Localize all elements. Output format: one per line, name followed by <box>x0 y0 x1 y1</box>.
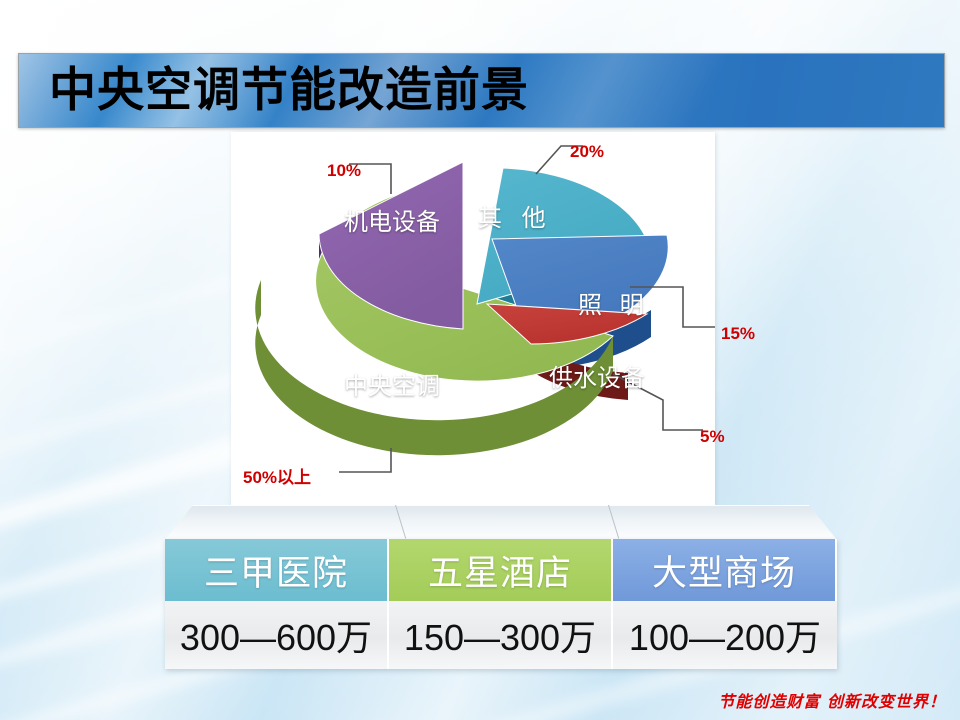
table-header-mall: 大型商场 <box>613 539 837 601</box>
table-header-hotel: 五星酒店 <box>389 539 613 601</box>
table-cell-mall-value: 100—200万 <box>613 601 837 669</box>
pie-percent-water: 5% <box>700 427 725 447</box>
page-title: 中央空调节能改造前景 <box>49 67 529 114</box>
table-cell-hospital-value: 300—600万 <box>165 601 389 669</box>
pie-chart-svg <box>231 132 715 505</box>
pie-percent-jidian: 10% <box>327 161 361 181</box>
pie-percent-lighting: 15% <box>721 324 755 344</box>
table-lid <box>165 505 837 540</box>
table-grid: 三甲医院 五星酒店 大型商场 300—600万 150—300万 100—200… <box>165 539 837 669</box>
pie-percent-other: 20% <box>570 142 604 162</box>
table-lid-seam <box>395 505 406 539</box>
pie-chart <box>231 132 715 505</box>
pie-percent-hvac: 50%以上 <box>243 463 311 488</box>
table-cell-hotel-value: 150—300万 <box>389 601 613 669</box>
footer-slogan: 节能创造财富 创新改变世界！ <box>0 688 946 712</box>
slide-canvas: 中央空调节能改造前景 <box>0 0 960 720</box>
table-lid-seam <box>608 505 619 539</box>
comparison-table: 三甲医院 五星酒店 大型商场 300—600万 150—300万 100—200… <box>165 505 837 675</box>
table-header-hospital: 三甲医院 <box>165 539 389 601</box>
title-banner: 中央空调节能改造前景 <box>18 53 945 128</box>
leader-line-hvac <box>339 448 391 472</box>
